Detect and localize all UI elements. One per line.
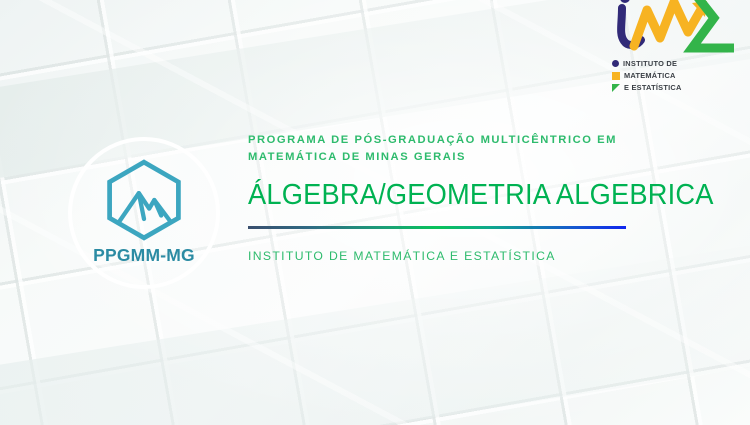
ppgmm-mg-label: PPGMM-MG xyxy=(93,245,195,266)
ime-caption-text: MATEMÁTICA xyxy=(624,72,676,79)
green-triangle-icon xyxy=(612,84,620,92)
ime-logo: INSTITUTO DE MATEMÁTICA E ESTATÍSTICA xyxy=(598,0,740,96)
institute-footline: INSTITUTO DE MATEMÁTICA E ESTATÍSTICA xyxy=(248,249,708,263)
ime-caption-line: MATEMÁTICA xyxy=(612,70,720,81)
ime-logo-mark xyxy=(600,0,734,56)
gradient-divider xyxy=(248,226,626,229)
program-eyebrow: PROGRAMA DE PÓS-GRADUAÇÃO MULTICÊNTRICO … xyxy=(248,132,698,165)
presentation-slide: INSTITUTO DE MATEMÁTICA E ESTATÍSTICA PP… xyxy=(0,0,750,425)
ppgmm-mg-badge: PPGMM-MG xyxy=(68,137,220,289)
page-title: ÁLGEBRA/GEOMETRIA ALGEBRICA xyxy=(248,181,680,210)
ime-caption-line: E ESTATÍSTICA xyxy=(612,82,720,93)
ime-logo-caption: INSTITUTO DE MATEMÁTICA E ESTATÍSTICA xyxy=(612,58,720,94)
yellow-square-icon xyxy=(612,72,620,80)
ime-caption-text: INSTITUTO DE xyxy=(623,60,677,67)
ime-caption-line: INSTITUTO DE xyxy=(612,58,720,69)
purple-circle-icon xyxy=(612,60,619,67)
slide-content: PROGRAMA DE PÓS-GRADUAÇÃO MULTICÊNTRICO … xyxy=(248,132,708,263)
ime-caption-text: E ESTATÍSTICA xyxy=(624,84,682,91)
hexagon-mountain-icon xyxy=(101,157,187,243)
